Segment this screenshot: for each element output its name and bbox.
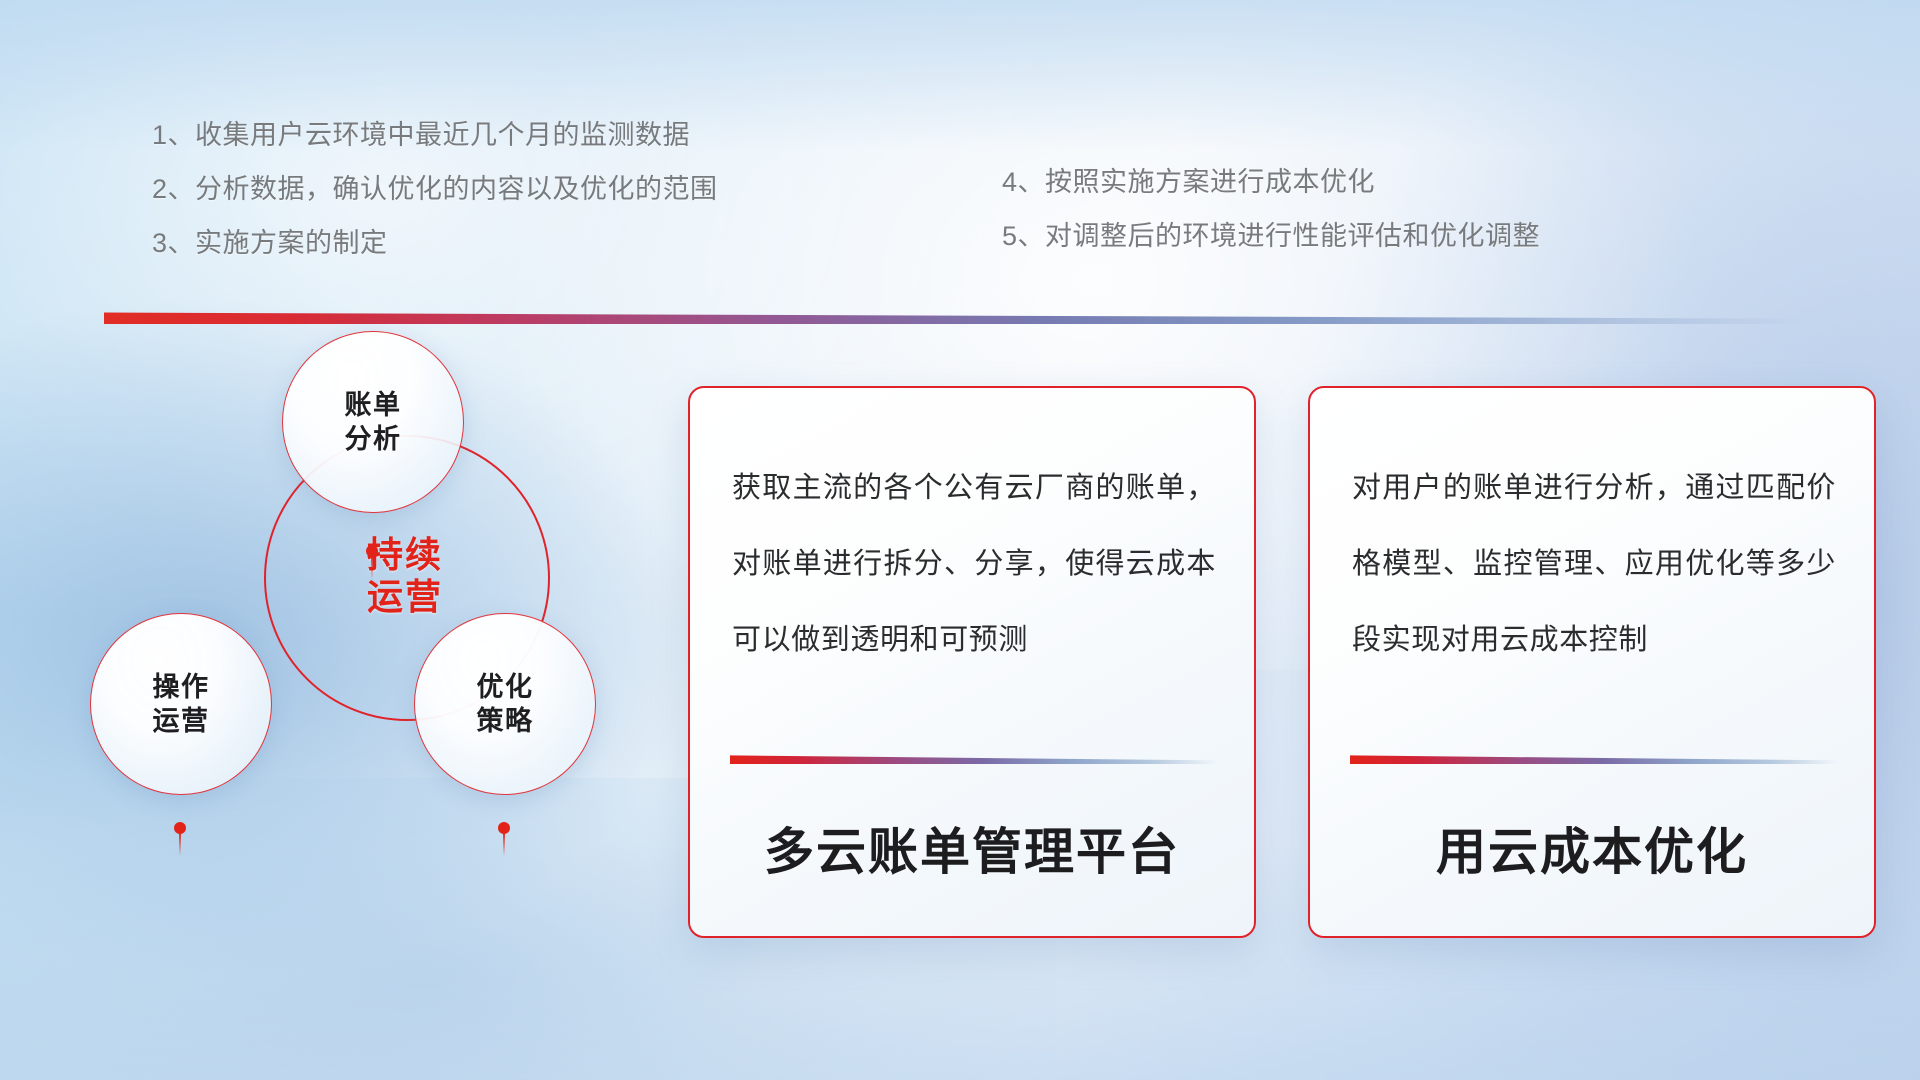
diagram-node-dot [366,545,378,557]
card-title: 多云账单管理平台 [690,812,1254,884]
step-item: 4、按照实施方案进行成本优化 [1002,155,1540,209]
step-item: 5、对调整后的环境进行性能评估和优化调整 [1002,209,1540,263]
continuous-operation-diagram: 持续 运营 账单 分析 操作 运营 优化 策略 [96,345,616,905]
card-divider [730,754,1218,764]
node-label-line1: 优化 [477,670,534,704]
node-label-line1: 操作 [153,670,210,704]
steps-right-column: 4、按照实施方案进行成本优化 5、对调整后的环境进行性能评估和优化调整 [1002,155,1540,263]
feature-card-multicloud-billing[interactable]: 获取主流的各个公有云厂商的账单，对账单进行拆分、分享，使得云成本可以做到透明和可… [688,386,1256,938]
diagram-node-dot [498,822,510,834]
card-title: 用云成本优化 [1310,812,1874,884]
node-label-line2: 运营 [153,704,210,738]
diagram-node-optimization-strategy[interactable]: 优化 策略 [414,613,596,795]
steps-left-column: 1、收集用户云环境中最近几个月的监测数据 2、分析数据，确认优化的内容以及优化的… [152,108,718,270]
card-divider [1350,754,1838,764]
diagram-node-operations[interactable]: 操作 运营 [90,613,272,795]
diagram-node-bill-analysis[interactable]: 账单 分析 [282,331,464,513]
section-divider-bar [104,310,1804,324]
step-item: 3、实施方案的制定 [152,216,718,270]
section-divider [104,310,1804,324]
diagram-node-dot [174,822,186,834]
diagram-connector-tail [371,555,373,579]
step-item: 2、分析数据，确认优化的内容以及优化的范围 [152,162,718,216]
feature-card-cloud-cost-optimization[interactable]: 对用户的账单进行分析，通过匹配价格模型、监控管理、应用优化等多少段实现对用云成本… [1308,386,1876,938]
card-body-text: 获取主流的各个公有云厂商的账单，对账单进行拆分、分享，使得云成本可以做到透明和可… [732,450,1216,678]
card-body-text: 对用户的账单进行分析，通过匹配价格模型、监控管理、应用优化等多少段实现对用云成本… [1352,450,1836,678]
steps-section: 1、收集用户云环境中最近几个月的监测数据 2、分析数据，确认优化的内容以及优化的… [0,0,1920,300]
slide-canvas: 1、收集用户云环境中最近几个月的监测数据 2、分析数据，确认优化的内容以及优化的… [0,0,1920,1080]
node-label-line2: 策略 [477,704,534,738]
center-label-line1: 持续 [367,534,443,576]
center-label-line2: 运营 [367,576,443,618]
diagram-connector-tail [179,832,181,856]
node-label-line1: 账单 [345,388,402,422]
step-item: 1、收集用户云环境中最近几个月的监测数据 [152,108,718,162]
diagram-connector-tail [503,832,505,856]
node-label-line2: 分析 [345,422,402,456]
